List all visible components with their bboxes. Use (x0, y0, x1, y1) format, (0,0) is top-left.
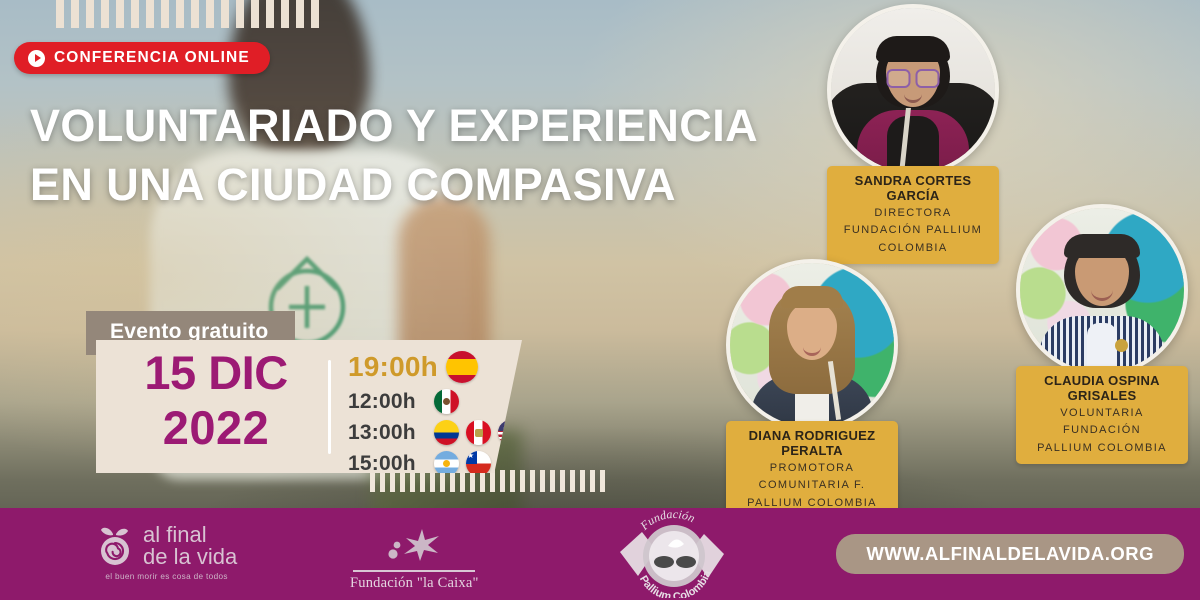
logo-la-caixa: Fundación "la Caixa" (350, 528, 479, 592)
speaker-name-line-2: GARCÍA (837, 188, 989, 203)
speaker-card: SANDRA CORTES GARCÍA DIRECTORA FUNDACIÓN… (827, 4, 999, 264)
logo-line-2: de la vida (143, 546, 237, 568)
speaker-role-line-1: VOLUNTARIA (1026, 406, 1178, 422)
panel-divider (328, 360, 331, 454)
speaker-name-line-2: GRISALES (1026, 388, 1178, 403)
speaker-name-line-1: CLAUDIA OSPINA (1026, 373, 1178, 388)
flag-peru-icon (466, 420, 491, 445)
timezone-flags (434, 451, 491, 476)
speaker-caption: CLAUDIA OSPINA GRISALES VOLUNTARIA FUNDA… (1016, 366, 1188, 464)
flag-argentina-icon (434, 451, 459, 476)
timezone-row: 13:00h (348, 417, 523, 448)
speaker-role-line-2: COMUNITARIA F. (736, 478, 888, 494)
play-icon (28, 50, 45, 67)
timezone-time: 13:00h (348, 421, 434, 445)
top-comb-decoration (56, 0, 319, 28)
event-date-year: 2022 (116, 404, 316, 452)
timezone-list: 19:00h 12:00h 13:00h 1 (348, 348, 523, 479)
timezone-time: 12:00h (348, 390, 434, 414)
mid-comb-decoration (370, 470, 605, 492)
flag-colombia-icon (434, 420, 459, 445)
star-icon (382, 528, 446, 562)
logo-wordmark: Fundación "la Caixa" (350, 575, 479, 592)
speaker-name-line-1: SANDRA CORTES (837, 173, 989, 188)
speaker-caption: SANDRA CORTES GARCÍA DIRECTORA FUNDACIÓN… (827, 166, 999, 264)
speaker-role-line-1: PROMOTORA (736, 461, 888, 477)
logo-line-1: al final (143, 524, 237, 546)
speaker-role-line-1: DIRECTORA (837, 206, 989, 222)
speaker-card: DIANA RODRIGUEZ PERALTA PROMOTORA COMUNI… (726, 259, 898, 519)
badge-label: CONFERENCIA ONLINE (54, 49, 250, 67)
timezone-time: 15:00h (348, 452, 434, 476)
headline-line-1: VOLUNTARIADO Y EXPERIENCIA (30, 96, 790, 155)
avatar (827, 4, 999, 176)
event-poster: CONFERENCIA ONLINE VOLUNTARIADO Y EXPERI… (0, 0, 1200, 600)
event-date-day: 15 DIC (116, 349, 316, 397)
avatar (726, 259, 898, 431)
speaker-name-line-2: PERALTA (736, 443, 888, 458)
speaker-role-line-3: PALLIUM COLOMBIA (1026, 441, 1178, 457)
logo-pallium-colombia: Fundación Pallium Colombia (612, 506, 732, 598)
logo-tagline: el buen morir es cosa de todos (105, 572, 227, 581)
avatar (1016, 204, 1188, 376)
timezone-row: 19:00h (348, 348, 523, 386)
flag-mexico-icon (434, 389, 459, 414)
timezone-time: 19:00h (348, 351, 446, 383)
website-pill[interactable]: WWW.ALFINALDELAVIDA.ORG (836, 534, 1184, 574)
speaker-role-line-3: COLOMBIA (837, 241, 989, 257)
speaker-name-line-1: DIANA RODRIGUEZ (736, 428, 888, 443)
timezone-row: 12:00h (348, 386, 523, 417)
logo-divider (353, 570, 475, 572)
timezone-flags (434, 389, 459, 414)
speaker-role-line-2: FUNDACIÓN PALLIUM (837, 223, 989, 239)
date-schedule-panel: 15 DIC 2022 19:00h 12:00h 13:00h (96, 340, 522, 473)
flag-spain-icon (446, 351, 478, 383)
headline-line-2: EN UNA CIUDAD COMPASIVA (30, 155, 790, 214)
speaker-card: CLAUDIA OSPINA GRISALES VOLUNTARIA FUNDA… (1016, 204, 1188, 464)
page-title: VOLUNTARIADO Y EXPERIENCIA EN UNA CIUDAD… (30, 96, 790, 215)
speaker-caption: DIANA RODRIGUEZ PERALTA PROMOTORA COMUNI… (726, 421, 898, 519)
conferencia-online-badge: CONFERENCIA ONLINE (14, 42, 270, 74)
event-date: 15 DIC 2022 (116, 349, 316, 452)
flag-chile-icon (466, 451, 491, 476)
speaker-role-line-2: FUNDACIÓN (1026, 423, 1178, 439)
spiral-fruit-icon (96, 524, 136, 568)
logo-al-final-de-la-vida: al final de la vida el buen morir es cos… (96, 524, 237, 581)
timezone-flags (446, 351, 478, 383)
